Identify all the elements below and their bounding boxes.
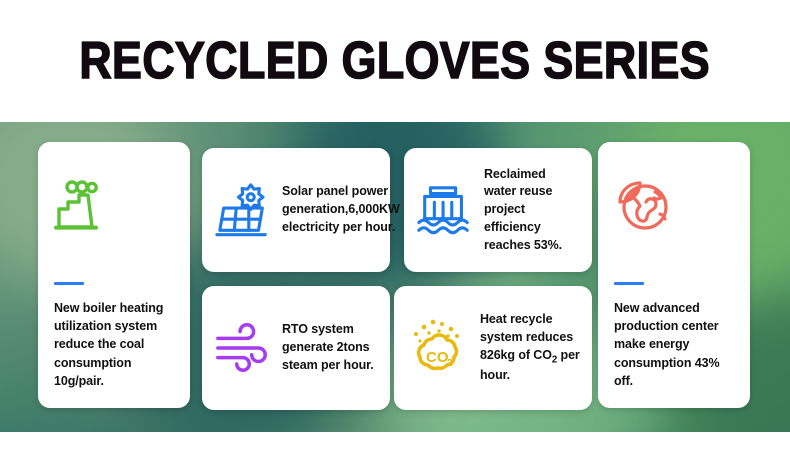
- card-co2-text: Heat recycle system reduces 826kg of CO2…: [480, 311, 580, 385]
- card-boiler-divider: [54, 282, 84, 285]
- card-co2[interactable]: CO 2 Heat recycle system reduces 826kg o…: [394, 286, 592, 410]
- card-rto[interactable]: RTO system generate 2tons steam per hour…: [202, 286, 390, 410]
- card-rto-icon-wrap: [214, 322, 272, 374]
- title-bar: RECYCLED GLOVES SERIES: [0, 0, 790, 122]
- card-solar[interactable]: Solar panel power generation,6,000KW ele…: [202, 148, 390, 272]
- card-co2-icon-wrap: CO 2: [406, 317, 470, 379]
- page-title: RECYCLED GLOVES SERIES: [80, 35, 711, 87]
- card-boiler-icon-wrap: [54, 164, 174, 266]
- co2-cloud-icon: CO 2: [406, 317, 470, 379]
- card-solar-text: Solar panel power generation,6,000KW ele…: [282, 183, 400, 236]
- factory-icon: [54, 178, 112, 230]
- card-solar-icon-wrap: [214, 182, 272, 238]
- card-water-text: Reclaimed water reuse project efficiency…: [484, 166, 580, 255]
- card-water-icon-wrap: [416, 183, 474, 237]
- card-center[interactable]: New advanced production center make ener…: [598, 142, 750, 408]
- card-rto-text: RTO system generate 2tons steam per hour…: [282, 321, 378, 374]
- card-boiler-text: New boiler heating utilization system re…: [54, 299, 174, 390]
- solar-panel-icon: [214, 182, 272, 238]
- earth-leaf-icon: [614, 178, 674, 236]
- card-center-icon-wrap: [614, 164, 734, 266]
- card-center-text: New advanced production center make ener…: [614, 299, 734, 390]
- poster-root: RECYCLED GLOVES SERIES New boiler heati: [0, 0, 790, 473]
- svg-text:2: 2: [447, 358, 453, 369]
- svg-text:CO: CO: [426, 349, 449, 366]
- card-water[interactable]: Reclaimed water reuse project efficiency…: [404, 148, 592, 272]
- water-reclaim-dam-icon: [416, 183, 474, 237]
- card-center-divider: [614, 282, 644, 285]
- card-boiler[interactable]: New boiler heating utilization system re…: [38, 142, 190, 408]
- wind-icon: [214, 322, 272, 374]
